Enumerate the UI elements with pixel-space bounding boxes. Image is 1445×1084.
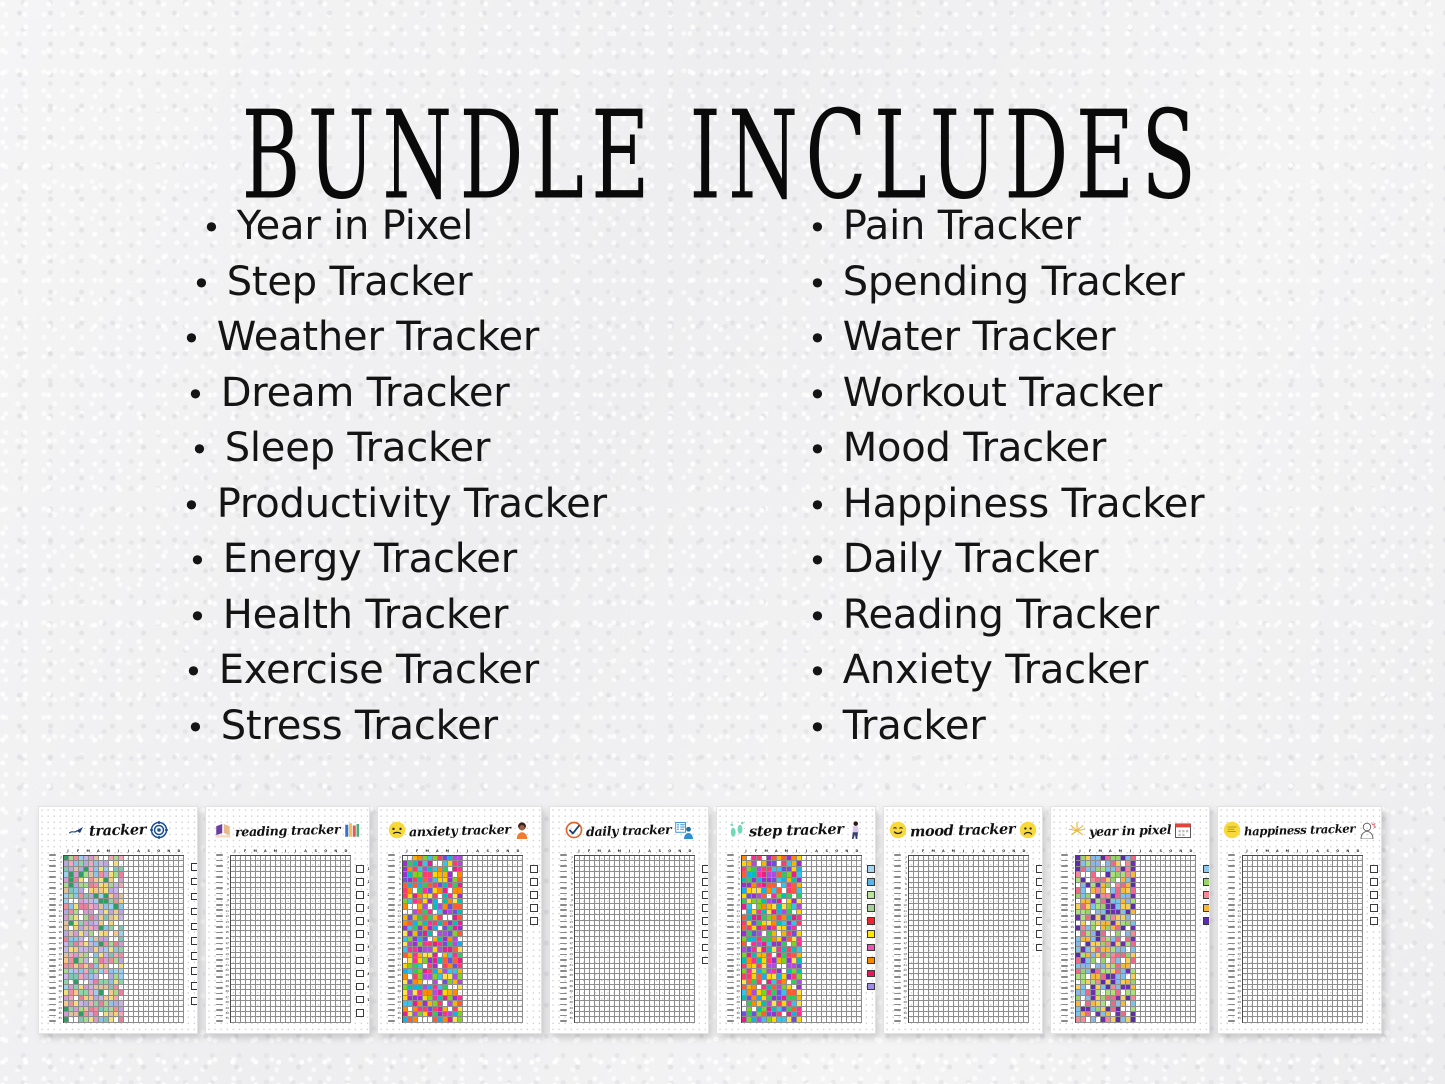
month-label: J: [402, 848, 412, 855]
month-label: J: [958, 848, 968, 855]
month-label: F: [73, 848, 83, 855]
tracker-grid[interactable]: JFMAMJJASOND1234567891011121314151617181…: [567, 848, 695, 1023]
month-label: S: [989, 848, 999, 855]
month-label: O: [321, 848, 331, 855]
legend-color-swatch[interactable]: [867, 930, 875, 938]
bundle-item-lists: •Year in Pixel•Step Tracker•Weather Trac…: [168, 178, 1445, 755]
legend-checkbox[interactable]: [191, 967, 198, 975]
grid-cell[interactable]: [179, 1017, 184, 1022]
month-label: M: [83, 848, 93, 855]
bullet-icon: •: [808, 313, 827, 367]
legend-checkbox[interactable]: [1036, 944, 1043, 952]
list-item: •Exercise Tracker: [168, 644, 778, 700]
legend-label: 80 - 90 pages: [368, 971, 371, 977]
month-label: D: [685, 848, 695, 855]
list-item-label: Sleep Tracker: [225, 422, 491, 476]
month-label: J: [968, 848, 978, 855]
bullet-icon: •: [808, 591, 827, 645]
legend-item[interactable]: Sad: [1036, 917, 1043, 925]
month-label: A: [938, 848, 948, 855]
legend-checkbox[interactable]: [191, 937, 198, 945]
card-title: reading tracker: [235, 821, 341, 839]
card-header: step tracker: [721, 813, 871, 847]
month-label: J: [908, 848, 918, 855]
legend-item[interactable]: 1 - 10 pages: [356, 865, 370, 873]
bundle-includes-page: BUNDLE INCLUDES •Year in Pixel•Step Trac…: [0, 0, 1445, 1084]
legend-item[interactable]: 3000 - 4000: [867, 891, 876, 899]
list-item: •Weather Tracker: [168, 311, 778, 367]
list-item: •Productivity Tracker: [168, 478, 778, 534]
legend-item[interactable]: 2000 - 3000: [867, 878, 876, 886]
tracker-grid[interactable]: JFMAMJJASOND1234567891011121314151617181…: [901, 848, 1029, 1023]
month-header-row: JFMAMJJASOND: [574, 848, 695, 855]
legend-color-swatch[interactable]: [867, 957, 875, 965]
month-label: A: [473, 848, 483, 855]
legend-item[interactable]: Very High: [530, 865, 542, 873]
legend-color-swatch[interactable]: [867, 917, 875, 925]
legend-color-swatch[interactable]: [867, 904, 875, 912]
month-label: S: [311, 848, 321, 855]
legend-checkbox[interactable]: [356, 957, 364, 965]
legend-checkbox[interactable]: [356, 944, 364, 952]
tracker-card-step-tracker[interactable]: step trackerJFMAMJJASOND1234567891011121…: [716, 806, 876, 1034]
spiral-binding: [388, 854, 395, 1022]
list-item-label: Anxiety Tracker: [843, 644, 1148, 698]
legend-item[interactable]: 30 - 40 pages: [356, 904, 370, 912]
list-item-label: Stress Tracker: [221, 700, 498, 754]
month-label: A: [771, 848, 781, 855]
list-column-left: •Year in Pixel•Step Tracker•Weather Trac…: [168, 200, 778, 755]
list-item-label: Exercise Tracker: [219, 644, 539, 698]
legend-checkbox[interactable]: [356, 930, 364, 938]
legend-item[interactable]: 8000 - 9000: [867, 944, 876, 952]
month-label: N: [503, 848, 513, 855]
day-number: 31: [56, 1016, 63, 1021]
spiral-binding: [894, 854, 901, 1022]
card-header: tracker: [43, 813, 193, 847]
month-label: O: [493, 848, 503, 855]
legend-checkbox[interactable]: [702, 917, 709, 925]
list-item: •Sleep Tracker: [168, 422, 778, 478]
legend-checkbox[interactable]: [191, 952, 198, 960]
bullet-icon: •: [184, 646, 203, 700]
legend-item[interactable]: 5000 - 6000: [867, 917, 876, 925]
month-label: F: [918, 848, 928, 855]
month-label: M: [422, 848, 432, 855]
card-title: step tracker: [748, 820, 843, 840]
legend-label: Very High: [542, 866, 543, 872]
list-item: •Reading Tracker: [800, 589, 1410, 645]
day-number: 31: [567, 1016, 574, 1021]
legend-checkbox[interactable]: [1036, 865, 1043, 873]
month-label: F: [751, 848, 761, 855]
card-title: daily tracker: [586, 821, 672, 838]
tracker-grid[interactable]: JFMAMJJASOND1234567891011121314151617181…: [395, 848, 523, 1023]
legend-item[interactable]: Happy: [1036, 878, 1043, 886]
list-item-label: Dream Tracker: [221, 367, 510, 421]
legend-item[interactable]: 10 - 20 pages: [356, 878, 370, 886]
legend-item[interactable]: Ok: [1036, 891, 1043, 899]
legend-item[interactable]: [356, 1009, 370, 1017]
bullet-icon: •: [808, 480, 827, 534]
legend-checkbox[interactable]: [356, 983, 364, 991]
list-item-label: Spending Tracker: [843, 256, 1185, 310]
day-number-column: 1234567891011121314151617181920212223242…: [395, 855, 402, 1023]
day-number-column: 1234567891011121314151617181920212223242…: [223, 855, 230, 1023]
day-number: 31: [223, 1016, 230, 1021]
month-label: J: [462, 848, 472, 855]
month-label: S: [144, 848, 154, 855]
legend: ExcitedHappyOkUpsetSadAngryShocked: [1036, 865, 1043, 951]
legend-checkbox[interactable]: [356, 996, 364, 1004]
legend-item[interactable]: 70 - 80 pages: [356, 957, 370, 965]
spiral-binding: [216, 854, 223, 1022]
month-label: A: [260, 848, 270, 855]
month-label: A: [93, 848, 103, 855]
bullet-icon: •: [182, 480, 201, 534]
legend-item[interactable]: Boring: [702, 944, 709, 952]
month-label: J: [574, 848, 584, 855]
list-item: •Energy Tracker: [168, 533, 778, 589]
tracker-grid[interactable]: JFMAMJJASOND1234567891011121314151617181…: [734, 848, 862, 1023]
legend-item[interactable]: Confusing: [702, 930, 709, 938]
legend-item[interactable]: Upset: [1036, 904, 1043, 912]
month-header-row: JFMAMJJASOND: [230, 848, 351, 855]
legend-checkbox[interactable]: [702, 930, 709, 938]
legend-checkbox[interactable]: [356, 1009, 364, 1017]
list-item-label: Water Tracker: [843, 311, 1116, 365]
month-label: M: [614, 848, 624, 855]
legend-checkbox[interactable]: [702, 891, 709, 899]
legend-checkbox[interactable]: [702, 865, 709, 873]
card-header: year in pixel: [1055, 813, 1205, 847]
legend-checkbox[interactable]: [530, 878, 538, 886]
legend-checkbox[interactable]: [702, 878, 709, 886]
month-label: J: [290, 848, 300, 855]
month-label: A: [604, 848, 614, 855]
legend-color-swatch[interactable]: [867, 983, 875, 991]
list-item-label: Reading Tracker: [843, 589, 1159, 643]
card-title: mood tracker: [910, 820, 1016, 840]
grid-cells[interactable]: [402, 855, 523, 1023]
bullet-icon: •: [188, 591, 207, 645]
month-label: J: [123, 848, 133, 855]
open-book-icon: [214, 821, 232, 839]
month-label: M: [442, 848, 452, 855]
spiral-binding: [727, 854, 734, 1022]
list-item-label: Happiness Tracker: [843, 478, 1205, 532]
month-label: M: [928, 848, 938, 855]
legend-item[interactable]: 60 - 70 pages: [356, 944, 370, 952]
legend: 1 - 10 pages10 - 20 pages20 - 30 pages30…: [356, 865, 370, 1017]
grid-cells[interactable]: [741, 855, 862, 1023]
legend-color-swatch[interactable]: [867, 865, 875, 873]
list-item: •Health Tracker: [168, 589, 778, 645]
list-item: •Stress Tracker: [168, 700, 778, 756]
legend-item[interactable]: Low: [530, 904, 542, 912]
month-label: A: [432, 848, 442, 855]
legend-checkbox[interactable]: [530, 904, 538, 912]
arrow-doodle-icon: [68, 821, 86, 839]
month-label: J: [791, 848, 801, 855]
legend-checkbox[interactable]: [1036, 930, 1043, 938]
bullet-icon: •: [808, 424, 827, 478]
sad-face-icon: [1019, 821, 1037, 839]
list-item: •Dream Tracker: [168, 367, 778, 423]
month-label: O: [832, 848, 842, 855]
bullet-icon: •: [808, 646, 827, 700]
legend-checkbox[interactable]: [191, 908, 198, 916]
month-label: N: [842, 848, 852, 855]
tracker-card-mood-tracker[interactable]: mood trackerJFMAMJJASOND1234567891011121…: [883, 806, 1043, 1034]
month-label: D: [1019, 848, 1029, 855]
legend-label: Low: [542, 905, 543, 911]
month-label: O: [665, 848, 675, 855]
legend-item[interactable]: Amazing: [702, 865, 709, 873]
legend-color-swatch[interactable]: [867, 944, 875, 952]
legend-checkbox[interactable]: [356, 970, 364, 978]
legend-item[interactable]: Bad: [702, 904, 709, 912]
legend-label: 60 - 70 pages: [368, 944, 371, 950]
month-label: J: [280, 848, 290, 855]
legend-item[interactable]: Excited: [1036, 865, 1043, 873]
tracker-card-anxiety-tracker[interactable]: anxiety trackerJFMAMJJASOND1234567891011…: [377, 806, 542, 1034]
legend-item[interactable]: 15k - 20k: [867, 983, 876, 991]
list-item: •Mood Tracker: [800, 422, 1410, 478]
card-title: tracker: [89, 821, 146, 840]
person-checklist-icon: [675, 821, 693, 839]
tracker-grid[interactable]: JFMAMJJASOND1234567891011121314151617181…: [223, 848, 351, 1023]
tracker-card-daily-tracker[interactable]: daily trackerJFMAMJJASOND123456789101112…: [549, 806, 709, 1034]
legend-checkbox[interactable]: [1036, 878, 1043, 886]
list-item-label: Daily Tracker: [843, 533, 1099, 587]
walking-woman-icon: [846, 821, 864, 839]
tracker-grid[interactable]: JFMAMJJASOND1234567891011121314151617181…: [56, 848, 184, 1023]
month-header-row: JFMAMJJASOND: [741, 848, 862, 855]
legend-label: 30 - 40 pages: [368, 905, 371, 911]
day-number: 31: [395, 1016, 402, 1021]
day-number: 31: [734, 1016, 741, 1021]
legend-label: 50 - 60 pages: [368, 931, 371, 937]
legend-label: None: [542, 918, 543, 924]
list-item-label: Energy Tracker: [223, 533, 517, 587]
legend-item[interactable]: None: [530, 917, 542, 925]
bullet-icon: •: [808, 535, 827, 589]
tracker-card-reading-tracker[interactable]: reading trackerJFMAMJJASOND1234567891011…: [205, 806, 370, 1034]
bullet-icon: •: [190, 424, 209, 478]
legend-checkbox[interactable]: [356, 891, 364, 899]
month-header-row: JFMAMJJASOND: [908, 848, 1029, 855]
legend-item[interactable]: 80 - 90 pages: [356, 970, 370, 978]
legend-checkbox[interactable]: [356, 917, 364, 925]
grid-cell[interactable]: [690, 1017, 695, 1022]
list-item: •Water Tracker: [800, 311, 1410, 367]
legend-label: 1 - 10 pages: [368, 866, 371, 872]
legend-item[interactable]: Angry: [1036, 930, 1043, 938]
month-label: D: [513, 848, 523, 855]
legend-color-swatch[interactable]: [867, 891, 875, 899]
list-item-label: Productivity Tracker: [217, 478, 607, 532]
month-label: J: [452, 848, 462, 855]
list-item-label: Mood Tracker: [843, 422, 1106, 476]
legend-item[interactable]: 4000 - 5000: [867, 904, 876, 912]
day-number-column: 1234567891011121314151617181920212223242…: [56, 855, 63, 1023]
spiral-binding: [49, 854, 56, 1022]
month-header-row: JFMAMJJASOND: [402, 848, 523, 855]
month-label: A: [812, 848, 822, 855]
grid-cell[interactable]: [346, 1017, 351, 1022]
bullet-icon: •: [186, 702, 205, 756]
page-title: BUNDLE INCLUDES: [145, 0, 1301, 217]
month-label: S: [822, 848, 832, 855]
worried-face-icon: [388, 821, 406, 839]
legend-checkbox[interactable]: [356, 904, 364, 912]
book-stack-icon: [343, 821, 361, 839]
grid-cells[interactable]: [908, 855, 1029, 1023]
legend-checkbox[interactable]: [1036, 917, 1043, 925]
month-label: M: [270, 848, 280, 855]
legend-item[interactable]: Horrible: [702, 917, 709, 925]
list-item-label: Tracker: [843, 700, 986, 754]
month-label: O: [154, 848, 164, 855]
legend-item[interactable]: 40 - 50 pages: [356, 917, 370, 925]
month-label: M: [250, 848, 260, 855]
list-item: •Workout Tracker: [800, 367, 1410, 423]
legend-checkbox[interactable]: [191, 982, 198, 990]
month-label: J: [624, 848, 634, 855]
month-label: J: [741, 848, 751, 855]
bullet-icon: •: [808, 258, 827, 312]
month-label: F: [584, 848, 594, 855]
legend-color-swatch[interactable]: [867, 970, 875, 978]
legend-item[interactable]: 10k - 15k: [867, 970, 876, 978]
legend-checkbox[interactable]: [702, 957, 709, 965]
month-label: N: [675, 848, 685, 855]
month-label: J: [230, 848, 240, 855]
legend-item[interactable]: 9000 - 10,000: [867, 957, 876, 965]
legend-checkbox[interactable]: [191, 997, 198, 1005]
bullet-icon: •: [188, 535, 207, 589]
month-label: A: [301, 848, 311, 855]
legend-color-swatch[interactable]: [867, 878, 875, 886]
card-header: mood tracker: [888, 813, 1038, 847]
legend-label: 100+ pages: [368, 997, 371, 1003]
list-item-label: Weather Tracker: [217, 311, 539, 365]
month-label: N: [331, 848, 341, 855]
bullet-icon: •: [192, 258, 211, 312]
tracker-card-tracker[interactable]: trackerJFMAMJJASOND123456789101112131415…: [38, 806, 198, 1034]
month-label: A: [134, 848, 144, 855]
month-label: A: [979, 848, 989, 855]
grid-cells[interactable]: [63, 855, 184, 1023]
footprints-icon: [728, 821, 746, 839]
month-label: O: [999, 848, 1009, 855]
list-item: •Spending Tracker: [800, 256, 1410, 312]
list-item: •Step Tracker: [168, 256, 778, 312]
legend-label: 70 - 80 pages: [368, 957, 371, 963]
legend-item[interactable]: Good: [702, 878, 709, 886]
month-label: S: [483, 848, 493, 855]
day-number-column: 1234567891011121314151617181920212223242…: [901, 855, 908, 1023]
day-number-column: 1234567891011121314151617181920212223242…: [734, 855, 741, 1023]
month-label: J: [113, 848, 123, 855]
legend-checkbox[interactable]: [356, 878, 364, 886]
month-label: F: [412, 848, 422, 855]
legend-checkbox[interactable]: [356, 865, 364, 873]
list-item: •Anxiety Tracker: [800, 644, 1410, 700]
grid-cell[interactable]: [857, 1017, 862, 1022]
legend-checkbox[interactable]: [530, 865, 538, 873]
legend-item[interactable]: [702, 957, 709, 965]
month-label: M: [781, 848, 791, 855]
card-header: reading tracker: [210, 813, 365, 847]
legend-item[interactable]: 90 - 100 pages: [356, 983, 370, 991]
legend-label: 40 - 50 pages: [368, 918, 371, 924]
legend-item[interactable]: Medium: [530, 891, 542, 899]
card-title: anxiety tracker: [409, 821, 511, 839]
legend-checkbox[interactable]: [191, 893, 198, 901]
legend-item[interactable]: Just ok: [702, 891, 709, 899]
bullet-icon: •: [182, 313, 201, 367]
legend-checkbox[interactable]: [702, 904, 709, 912]
legend-checkbox[interactable]: [1036, 904, 1043, 912]
legend-checkbox[interactable]: [1036, 891, 1043, 899]
legend-checkbox[interactable]: [530, 917, 538, 925]
month-label: N: [164, 848, 174, 855]
list-item-label: Health Tracker: [223, 589, 509, 643]
month-header-row: JFMAMJJASOND: [63, 848, 184, 855]
legend-item[interactable]: 20 - 30 pages: [356, 891, 370, 899]
check-circle-icon: [565, 821, 583, 839]
grid-cell[interactable]: [518, 1017, 523, 1022]
legend-checkbox[interactable]: [702, 944, 709, 952]
legend-item[interactable]: High: [530, 878, 542, 886]
legend-item[interactable]: 1000 - 2000: [867, 865, 876, 873]
list-column-right: •Pain Tracker•Spending Tracker•Water Tra…: [800, 200, 1410, 755]
legend-checkbox[interactable]: [191, 863, 198, 871]
list-item: •Happiness Tracker: [800, 478, 1410, 534]
month-label: J: [63, 848, 73, 855]
month-label: M: [761, 848, 771, 855]
month-label: M: [948, 848, 958, 855]
legend-item[interactable]: Shocked: [1036, 944, 1043, 952]
grid-cell[interactable]: [1024, 1017, 1029, 1022]
month-label: F: [240, 848, 250, 855]
month-label: J: [634, 848, 644, 855]
grid-cells[interactable]: [230, 855, 351, 1023]
bullet-icon: •: [186, 369, 205, 423]
legend-checkbox[interactable]: [530, 891, 538, 899]
legend-item[interactable]: 100+ pages: [356, 996, 370, 1004]
woman-thinking-icon: [513, 821, 531, 839]
legend: Very HighHighMediumLowNone: [530, 865, 542, 925]
legend-checkbox-column[interactable]: [191, 863, 198, 1005]
legend-item[interactable]: 50 - 60 pages: [356, 930, 370, 938]
month-label: D: [341, 848, 351, 855]
day-number: 31: [901, 1016, 908, 1021]
grid-cells[interactable]: [574, 855, 695, 1023]
tracker-card-year-in-pixel[interactable]: year in pixelJFMAMJJASOND123456789101112…: [1050, 806, 1210, 1034]
month-label: M: [103, 848, 113, 855]
list-item: •Tracker: [800, 700, 1410, 756]
legend: 1000 - 20002000 - 30003000 - 40004000 - …: [867, 865, 876, 990]
legend-label: High: [542, 879, 543, 885]
legend-item[interactable]: 6000 - 7000: [867, 930, 876, 938]
month-label: J: [801, 848, 811, 855]
bullet-icon: •: [808, 702, 827, 756]
legend-checkbox[interactable]: [191, 923, 198, 931]
legend-checkbox[interactable]: [191, 878, 198, 886]
